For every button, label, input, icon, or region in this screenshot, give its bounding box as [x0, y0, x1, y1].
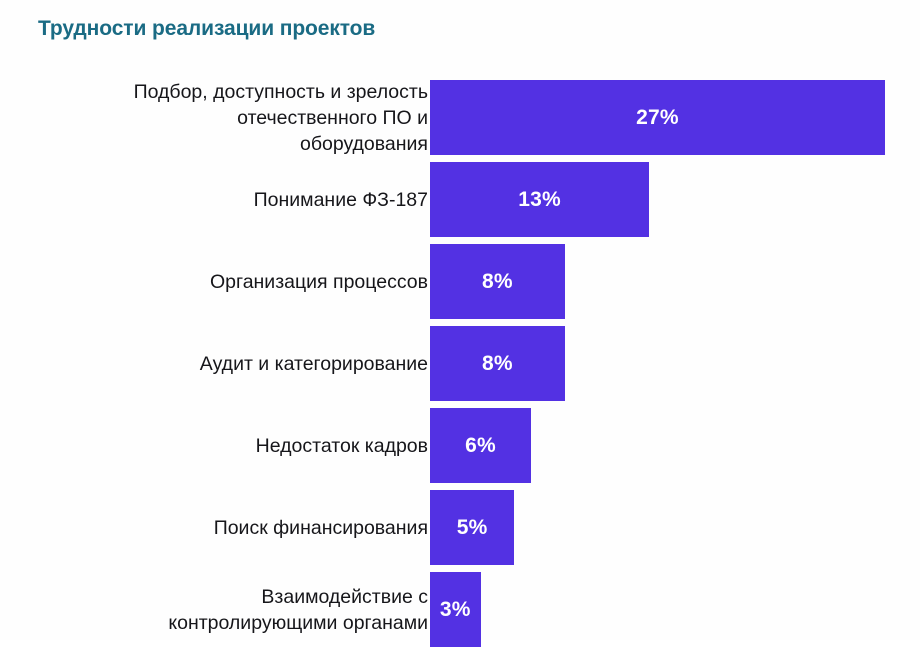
- bar-value-label: 5%: [457, 516, 488, 540]
- bar-fill[interactable]: 5%: [430, 490, 514, 565]
- bar-value-label: 3%: [440, 598, 471, 622]
- bar-fill[interactable]: 8%: [430, 244, 565, 319]
- bar-fill[interactable]: 13%: [430, 162, 649, 237]
- bar-category-label: Подбор, доступность и зрелостьотечествен…: [28, 79, 428, 157]
- bar-track: 27%: [430, 80, 885, 155]
- bar-category-label: Взаимодействие сконтролирующими органами: [28, 584, 428, 636]
- page-title: Трудности реализации проектов: [38, 17, 375, 41]
- bar-category-label: Недостаток кадров: [28, 433, 428, 459]
- bar-row: Понимание ФЗ-18713%: [0, 162, 920, 237]
- bar-track: 8%: [430, 326, 565, 401]
- bar-row: Недостаток кадров6%: [0, 408, 920, 483]
- bar-row: Взаимодействие сконтролирующими органами…: [0, 572, 920, 647]
- chart-page: Трудности реализации проектов Подбор, до…: [0, 0, 920, 640]
- bar-fill[interactable]: 8%: [430, 326, 565, 401]
- bar-row: Организация процессов8%: [0, 244, 920, 319]
- bar-value-label: 13%: [518, 188, 561, 212]
- bar-category-label: Поиск финансирования: [28, 515, 428, 541]
- bar-fill[interactable]: 3%: [430, 572, 481, 647]
- bar-category-label: Организация процессов: [28, 269, 428, 295]
- bar-track: 13%: [430, 162, 649, 237]
- bar-category-label: Аудит и категорирование: [28, 351, 428, 377]
- bar-value-label: 8%: [482, 270, 513, 294]
- bar-fill[interactable]: 27%: [430, 80, 885, 155]
- bar-track: 5%: [430, 490, 514, 565]
- bar-category-label: Понимание ФЗ-187: [28, 187, 428, 213]
- bar-value-label: 8%: [482, 352, 513, 376]
- bar-row: Аудит и категорирование8%: [0, 326, 920, 401]
- bar-value-label: 6%: [465, 434, 496, 458]
- bar-track: 8%: [430, 244, 565, 319]
- bar-row: Поиск финансирования5%: [0, 490, 920, 565]
- bar-track: 6%: [430, 408, 531, 483]
- bar-track: 3%: [430, 572, 481, 647]
- bar-chart: Подбор, доступность и зрелостьотечествен…: [0, 78, 920, 618]
- bar-value-label: 27%: [636, 106, 679, 130]
- bar-fill[interactable]: 6%: [430, 408, 531, 483]
- bar-row: Подбор, доступность и зрелостьотечествен…: [0, 80, 920, 155]
